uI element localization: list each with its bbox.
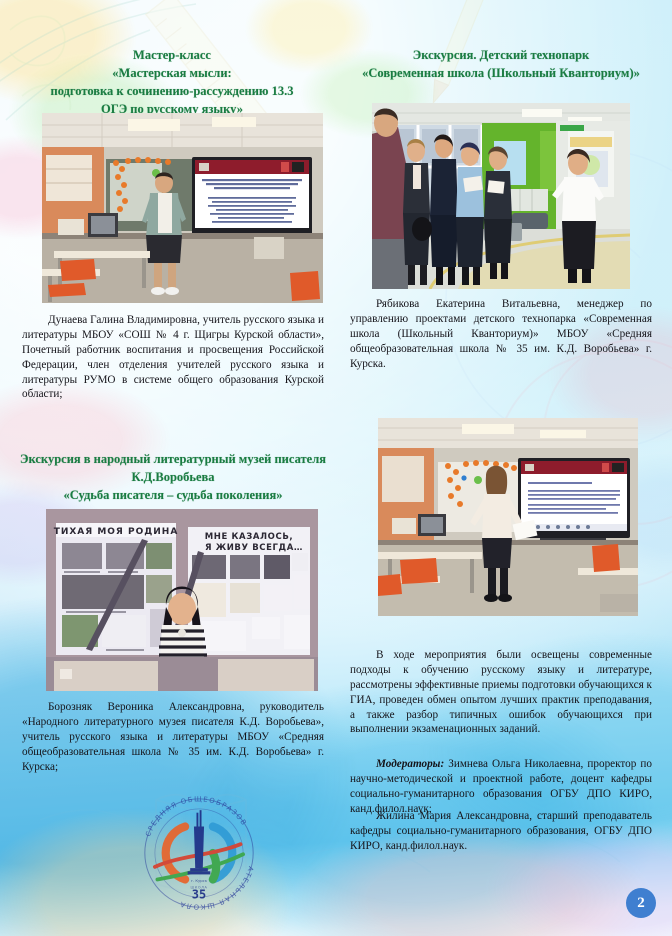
svg-text:Я ЖИВУ ВСЕГДА…: Я ЖИВУ ВСЕГДА… <box>205 543 303 553</box>
photo-technopark-tour <box>372 103 630 289</box>
right-paragraph-3: Жилина Мария Александровна, старший преп… <box>350 809 652 854</box>
left-section2-caption: Борозняк Вероника Александровна, руковод… <box>22 700 324 774</box>
left-section1-caption-text: Дунаева Галина Владимировна, учитель рус… <box>22 314 324 400</box>
right-section1-caption: Рябикова Екатерина Витальевна, менеджер … <box>350 297 652 371</box>
photo-museum: ТИХАЯ МОЯ РОДИНА <box>46 509 318 691</box>
left-section1-heading: Мастер-класс«Мастерская мысли:подготовка… <box>22 46 322 119</box>
left-section2-heading: Экскурсия в народный литературный музей … <box>18 450 328 504</box>
photo-lesson <box>378 418 638 616</box>
page-number-badge: 2 <box>626 888 656 918</box>
left-section1-caption: Дунаева Галина Владимировна, учитель рус… <box>22 313 324 402</box>
right-paragraph-1-text: В ходе мероприятия были освещены совреме… <box>350 649 652 735</box>
moderator-2-text: Жилина Мария Александровна, старший преп… <box>350 810 652 852</box>
right-paragraph-1: В ходе мероприятия были освещены совреме… <box>350 648 652 737</box>
photo-masterclass <box>42 113 323 303</box>
right-section1-heading: Экскурсия. Детский технопарк«Современная… <box>350 46 652 82</box>
svg-text:МНЕ КАЗАЛОСЬ,: МНЕ КАЗАЛОСЬ, <box>205 532 294 542</box>
right-moderators-paragraph: Модераторы: Зимнева Ольга Николаевна, пр… <box>350 757 652 817</box>
left-section2-caption-text: Борозняк Вероника Александровна, руковод… <box>22 701 324 773</box>
svg-text:ТИХАЯ МОЯ РОДИНА: ТИХАЯ МОЯ РОДИНА <box>54 527 179 537</box>
right-section1-caption-text: Рябикова Екатерина Витальевна, менеджер … <box>350 298 652 370</box>
page-content: Мастер-класс«Мастерская мысли:подготовка… <box>0 0 672 936</box>
moderators-label: Модераторы: <box>376 758 444 770</box>
document-page: СРЕДНЯЯ ОБЩЕОБРАЗОВ АТЕЛЬНАЯ ШКОЛА г <box>0 0 672 936</box>
